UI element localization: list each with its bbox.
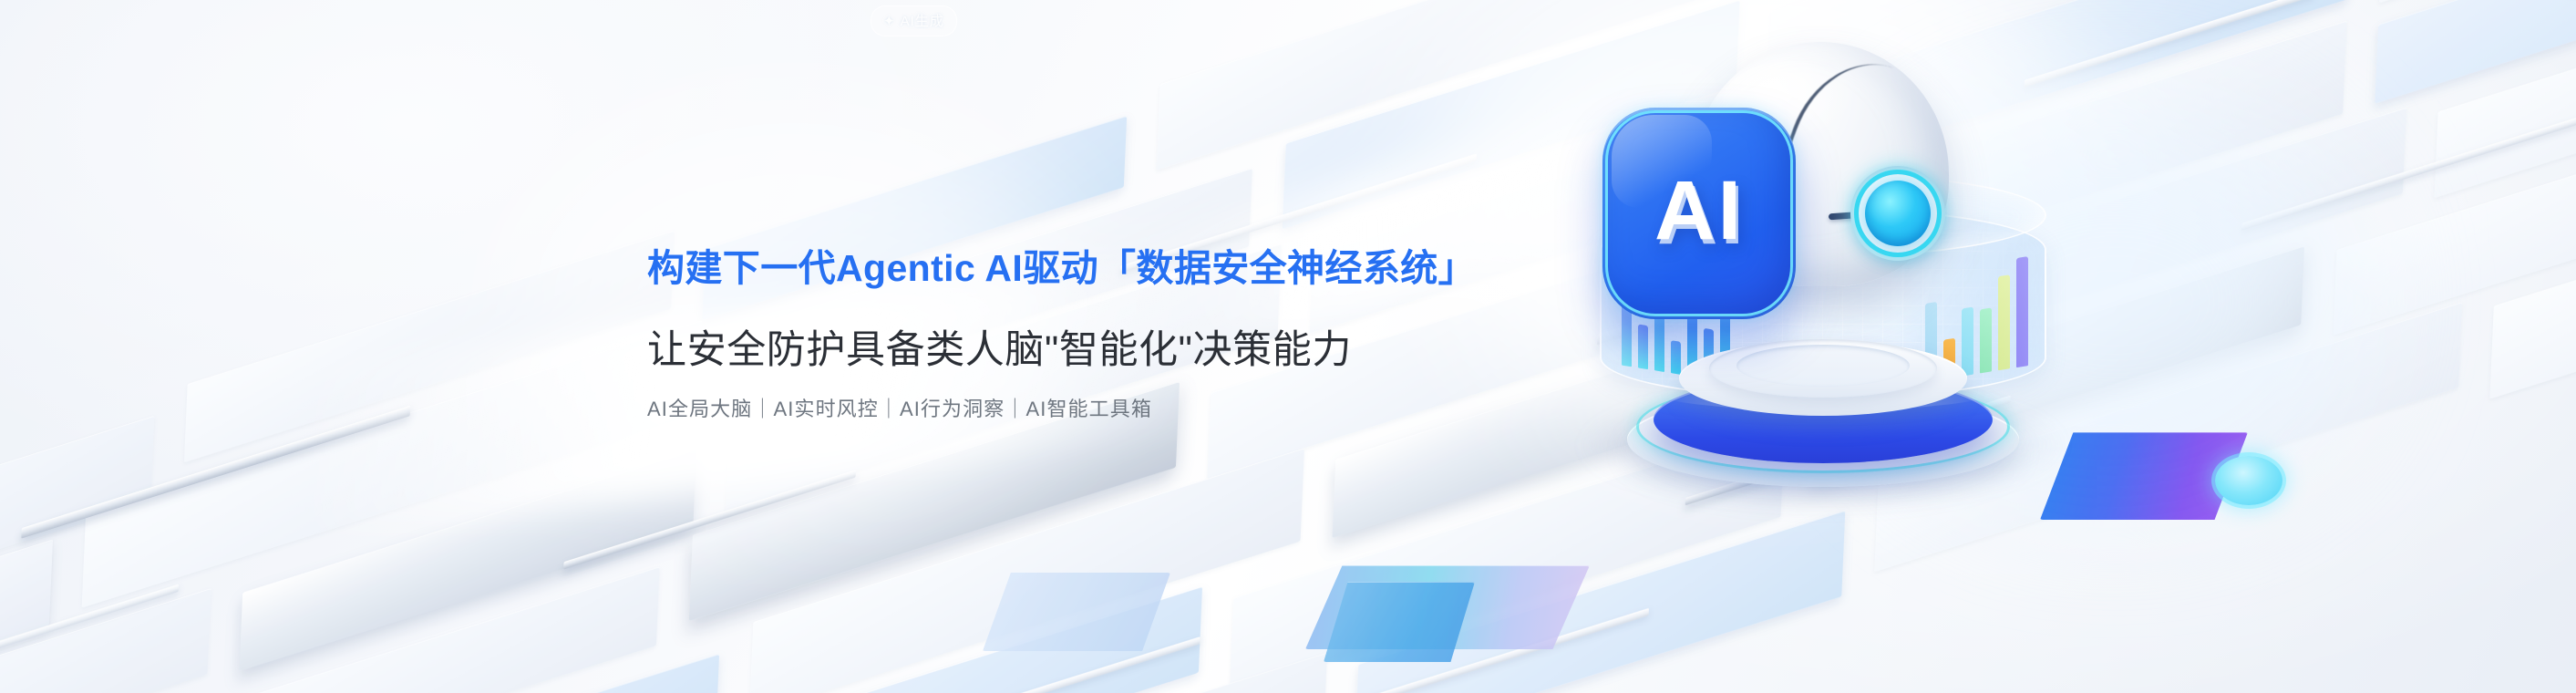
accent-tile-skyblue <box>1324 582 1475 662</box>
watermark-label: AI生成 <box>901 11 944 30</box>
ai-badge-label: AI <box>1602 108 1796 319</box>
banner-subheadline: 让安全防护具备类人脑"智能化"决策能力 <box>647 328 1559 373</box>
eye-core <box>1865 181 1931 246</box>
sparkle-icon: ✦ <box>883 13 896 29</box>
banner-headline: 构建下一代Agentic AI驱动「数据安全神经系统」 <box>647 248 1559 290</box>
banner-tagline: AI全局大脑｜AI实时风控｜AI行为洞察｜AI智能工具箱 <box>647 393 1559 422</box>
accent-tile-pale <box>983 573 1170 651</box>
banner-copy: 构建下一代Agentic AI驱动「数据安全神经系统」 让安全防护具备类人脑"智… <box>647 248 1559 422</box>
ai-generated-watermark: ✦ AI生成 <box>871 5 957 36</box>
ai-robot-illustration: AI <box>1540 20 2106 494</box>
pedestal-inner-disc <box>1736 345 1910 387</box>
ai-badge: AI <box>1602 108 1796 319</box>
cyan-disc-icon <box>2215 456 2282 505</box>
robot-eye <box>1850 166 1945 261</box>
hero-banner: ✦ AI生成 构建下一代Agentic AI驱动「数据安全神经系统」 让安全防护… <box>0 0 2576 693</box>
